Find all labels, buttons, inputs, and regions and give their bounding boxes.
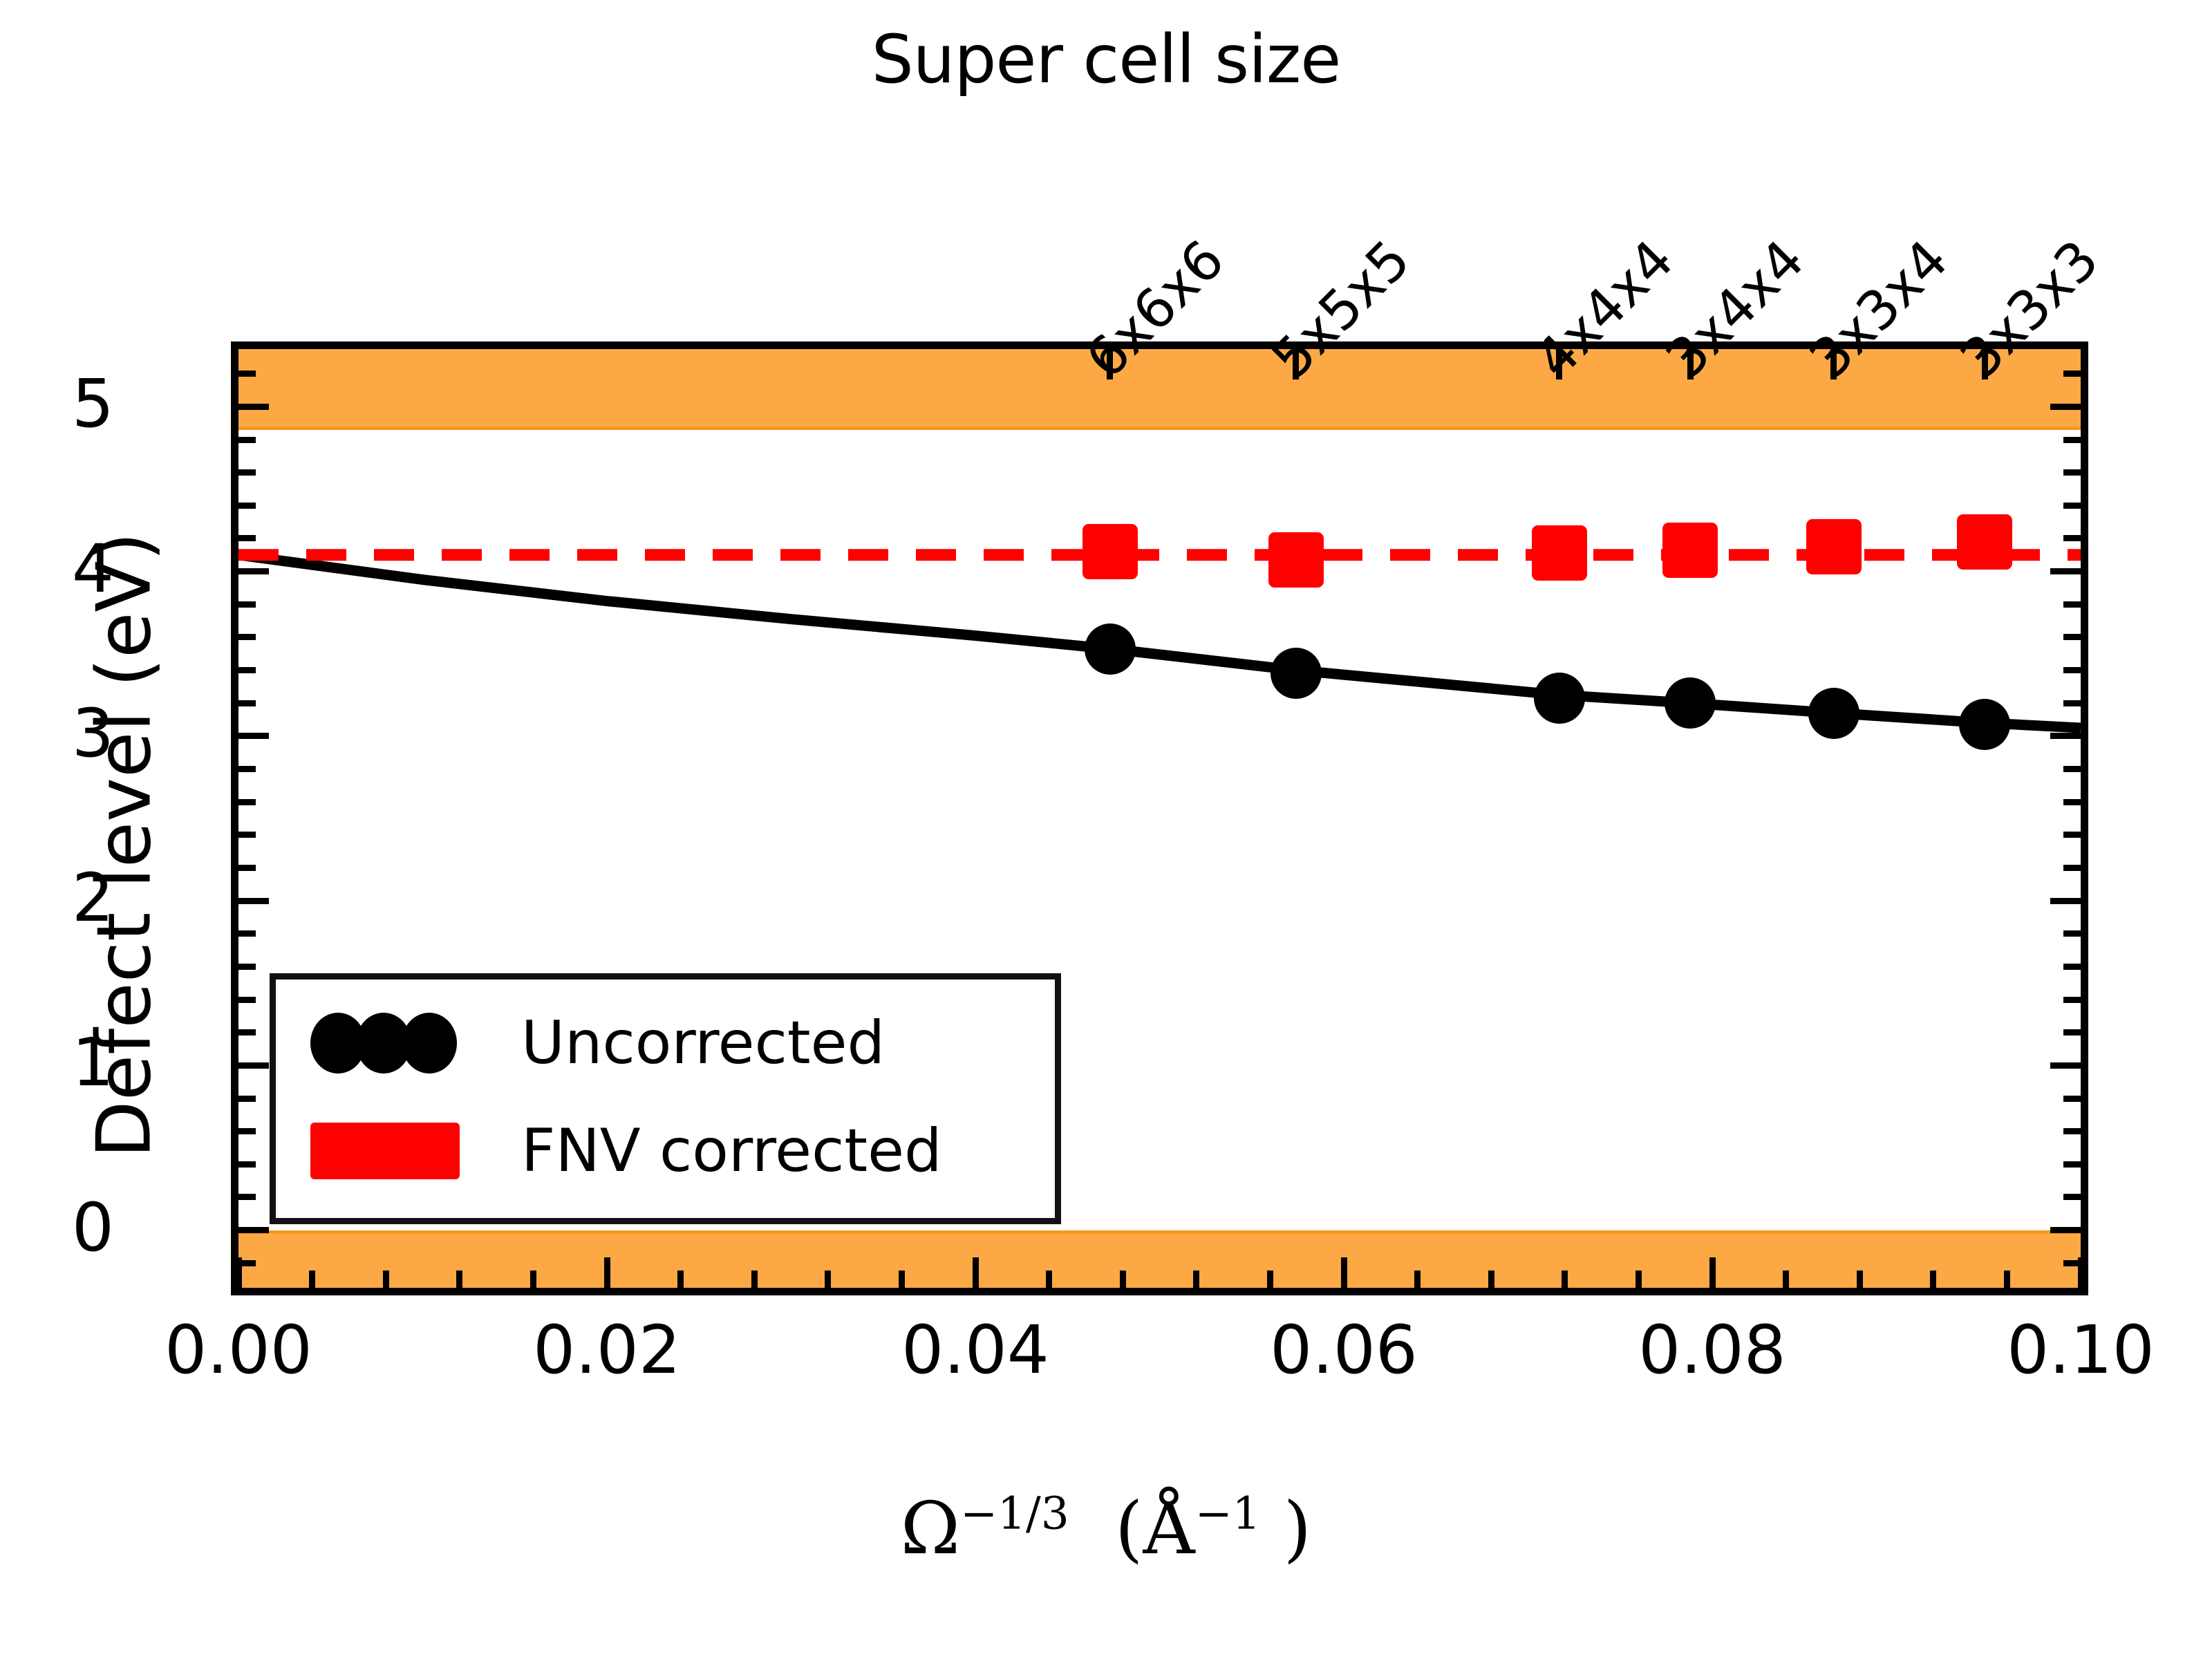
data-point-2-2 — [1268, 532, 1324, 588]
x-axis-title: Ω−1/3 (Å−1 ) — [0, 1486, 2212, 1571]
legend-label-uncorrected: Uncorrected — [521, 1009, 885, 1078]
x-title-paren-open: ( — [1115, 1486, 1143, 1571]
data-point-1-3 — [1534, 673, 1585, 724]
data-point-2-5 — [1806, 519, 1862, 574]
x-tick-label-0.04: 0.04 — [830, 1317, 1121, 1383]
data-point-2-3 — [1532, 525, 1587, 581]
y-tick-label-3: 3 — [0, 700, 114, 767]
x-title-exponent: −1/3 — [960, 1488, 1069, 1539]
data-point-2-4 — [1662, 523, 1718, 578]
x-tick-label-0.06: 0.06 — [1199, 1317, 1489, 1383]
x-title-paren-close: ) — [1284, 1486, 1312, 1571]
legend: Uncorrected FNV corrected — [270, 973, 1061, 1224]
x-title-omega: Ω — [901, 1486, 960, 1571]
x-tick-label-0.02: 0.02 — [462, 1317, 752, 1383]
y-tick-label-1: 1 — [0, 1029, 114, 1096]
chart-title: Super cell size — [0, 21, 2212, 98]
x-tick-label-0.08: 0.08 — [1567, 1317, 1857, 1383]
legend-marker-square-group — [310, 1103, 518, 1199]
data-point-2-1 — [1082, 524, 1138, 579]
data-point-2-6 — [1957, 514, 2012, 570]
y-axis-title: Defect level (eV) — [82, 362, 168, 1329]
y-tick-label-5: 5 — [0, 371, 114, 437]
legend-marker-circle-group — [310, 995, 518, 1091]
y-tick-label-2: 2 — [0, 865, 114, 931]
data-point-1-1 — [1085, 624, 1136, 675]
legend-circle-icon-3 — [402, 1013, 457, 1074]
figure-root: Super cell size Defect level (eV) Ω−1/3 … — [0, 0, 2212, 1659]
x-title-angstrom: Å — [1143, 1486, 1194, 1571]
x-title-unit-exponent: −1 — [1195, 1488, 1261, 1539]
series-line-1 — [238, 555, 2081, 728]
x-tick-label-0.00: 0.00 — [93, 1317, 384, 1383]
y-tick-label-0: 0 — [0, 1194, 114, 1261]
y-tick-label-4: 4 — [0, 536, 114, 602]
legend-label-fnv-corrected: FNV corrected — [521, 1116, 942, 1185]
legend-item-fnv-corrected[interactable]: FNV corrected — [276, 1103, 1055, 1199]
data-point-1-5 — [1808, 688, 1859, 739]
legend-item-uncorrected[interactable]: Uncorrected — [276, 995, 1055, 1091]
data-point-1-2 — [1271, 648, 1322, 699]
legend-square-icon-3 — [393, 1123, 460, 1179]
x-tick-label-0.10: 0.10 — [1935, 1317, 2212, 1383]
data-point-1-4 — [1665, 677, 1716, 729]
